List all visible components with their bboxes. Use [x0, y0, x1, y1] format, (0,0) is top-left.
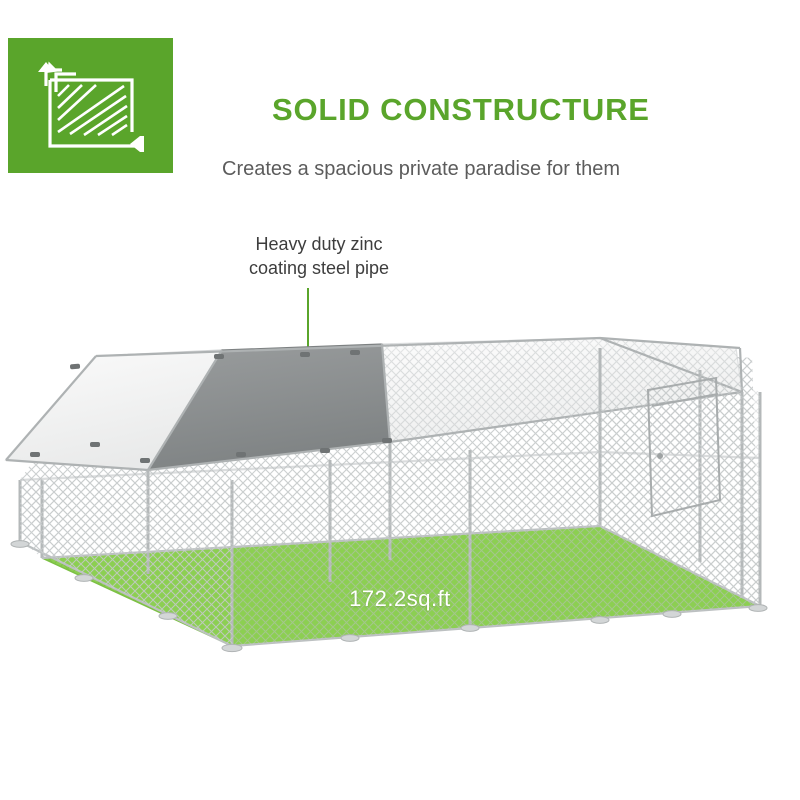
callout-line-2: coating steel pipe [204, 256, 434, 280]
header: SOLID CONSTRUCTURE Creates a spacious pr… [0, 38, 800, 173]
door-latch-icon[interactable] [657, 453, 663, 459]
access-door[interactable] [648, 378, 720, 516]
product-image [0, 330, 800, 690]
coop-illustration [0, 330, 800, 690]
callout-label: Heavy duty zinc coating steel pipe [204, 232, 434, 280]
product-feature-slide: SOLID CONSTRUCTURE Creates a spacious pr… [0, 0, 800, 800]
callout-line-1: Heavy duty zinc [204, 232, 434, 256]
page-title: SOLID CONSTRUCTURE [272, 94, 650, 125]
page-subtitle: Creates a spacious private paradise for … [222, 159, 620, 179]
feature-badge [8, 38, 173, 173]
